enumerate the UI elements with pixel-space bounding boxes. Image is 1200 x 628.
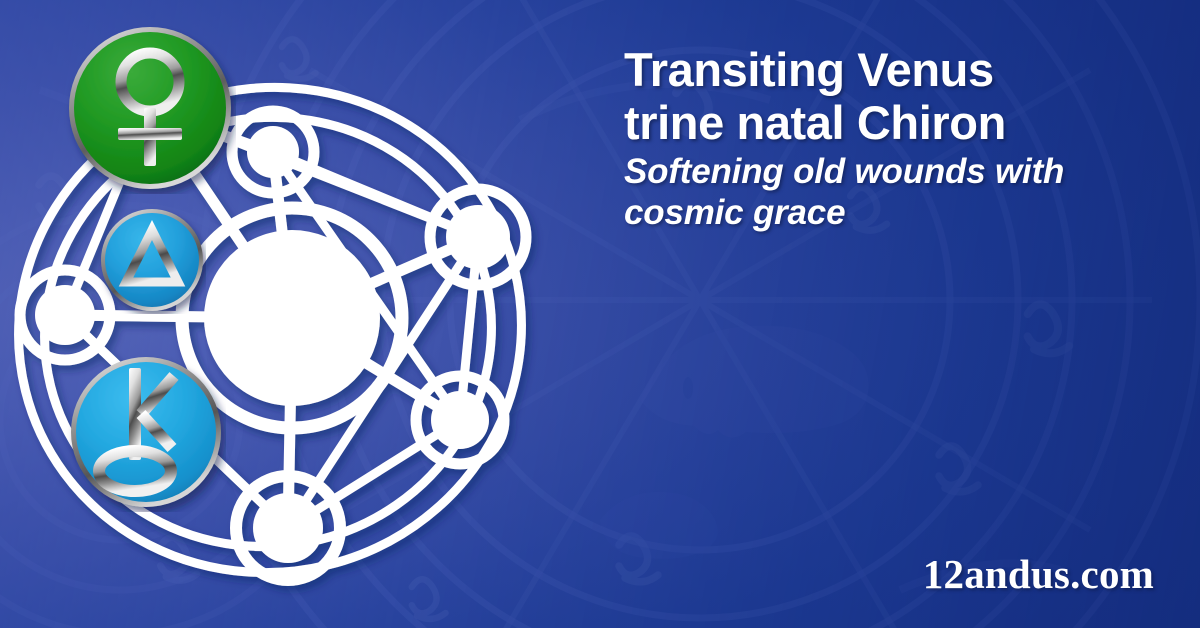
venus-planet-badge[interactable] <box>64 22 236 194</box>
aspect-subtitle: Softening old wounds with cosmic grace <box>624 152 1154 234</box>
astrology-banner: Transiting Venus trine natal Chiron Soft… <box>0 0 1200 628</box>
trine-aspect-badge[interactable] <box>98 206 206 314</box>
chiron-planet-badge[interactable] <box>66 352 226 512</box>
headline-block: Transiting Venus trine natal Chiron Soft… <box>624 44 1154 234</box>
site-logo[interactable]: 12andus.com <box>923 550 1154 598</box>
aspect-title: Transiting Venus trine natal Chiron <box>624 44 1154 149</box>
